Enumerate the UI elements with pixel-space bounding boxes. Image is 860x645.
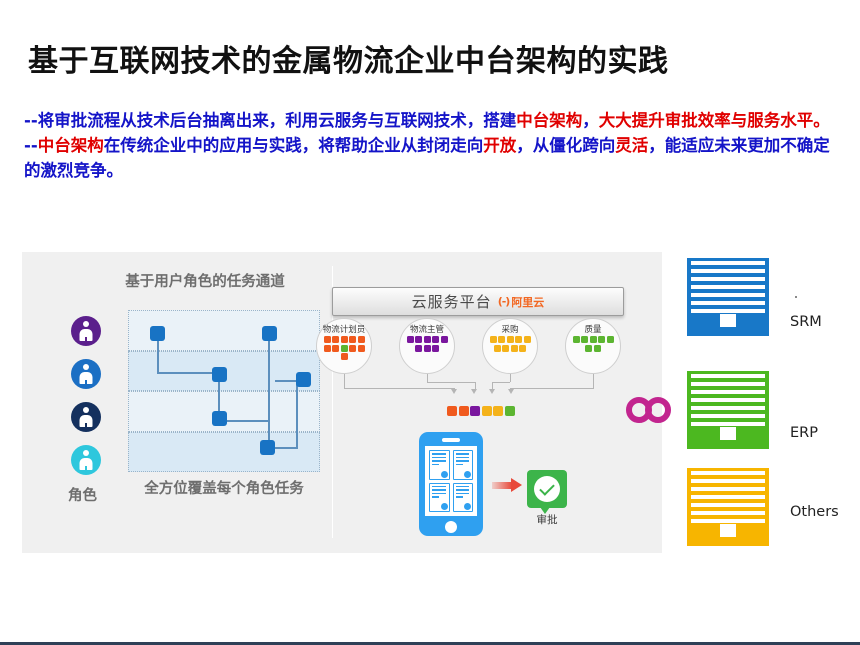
role-circle-label: 采购 [483,323,537,335]
avatar-leg-gap [85,466,87,472]
chain-link-icon [626,395,678,425]
role-circle-label: 物流主管 [400,323,454,335]
role-chip [432,336,439,343]
slide-canvas: 基于互联网技术的金属物流企业中台架构的实践 --将审批流程从技术后台抽离出来，利… [0,0,860,645]
phone-home-button [445,521,457,533]
system-stripe [691,269,765,273]
doc-text-line [432,464,439,466]
role-chip [332,345,339,352]
system-stripe [691,479,765,483]
role-circle-label: 物流计划员 [317,323,371,335]
role-chip [441,336,448,343]
system-stripe [691,398,765,402]
connector-tail-2 [475,382,476,390]
role-chip [324,336,331,343]
role-chip [507,336,514,343]
role-chip [358,345,365,352]
system-stripe [691,414,765,418]
chain-link-right [645,397,671,423]
role-chip [524,336,531,343]
role-chip-grid [404,336,450,352]
page-title: 基于互联网技术的金属物流企业中台架构的实践 [28,36,669,80]
lane-4 [128,432,320,473]
output-chip [482,406,492,416]
role-chip [349,336,356,343]
flow-arrow-icon [492,478,522,492]
role-chip [424,345,431,352]
avatar-leg-gap [85,423,87,429]
role-chip [349,345,356,352]
connector-arrow-2 [471,389,477,394]
role-circle-3[interactable]: 采购 [482,318,538,374]
approval-doc-card[interactable] [429,483,450,513]
doc-text-line [432,496,439,498]
role-chip [432,345,439,352]
system-stripe [691,495,765,499]
approval-doc-card[interactable] [453,450,474,480]
role-chip [519,345,526,352]
connector-run-1 [344,388,455,389]
roles-footer-label: 角色 [68,484,97,505]
role-circle-label: 质量 [566,323,620,335]
role-chip [494,345,501,352]
system-slot [720,314,736,327]
role-chip-grid [570,336,616,352]
p1-seg3: ， [582,111,599,130]
avatar-leg-gap [85,337,87,343]
left-panel-heading: 基于用户角色的任务通道 [90,270,320,291]
system-slot [720,524,736,537]
doc-text-line [456,486,470,488]
output-chip [447,406,457,416]
connector-arrow-4 [508,389,514,394]
connector-tail-3 [492,382,493,390]
system-stripe [691,487,765,491]
system-stripe [691,503,765,507]
connector-run-2 [427,382,475,383]
task-node-1[interactable] [150,326,165,341]
system-stripe [691,382,765,386]
output-chip [493,406,503,416]
role-chip [341,353,348,360]
system-icon-srm[interactable] [687,258,769,336]
role-chip [598,336,605,343]
role-avatar-purple [71,316,101,346]
role-chip [498,336,505,343]
mobile-device-icon [419,432,483,536]
system-stripe [691,511,765,515]
p2-highlight-2: 开放 [483,136,516,155]
role-chip [594,345,601,352]
p2-seg3: 在传统企业中的应用与实践，将帮助企业从封闭走向 [104,136,484,155]
body-paragraph-1: --将审批流程从技术后台抽离出来，利用云服务与互联网技术，搭建中台架构，大大提升… [24,108,842,133]
p1-highlight-1: 中台架构 [516,111,582,130]
system-stripe [691,406,765,410]
task-node-3[interactable] [212,411,227,426]
aggregated-task-chips [447,406,515,416]
role-chip [358,336,365,343]
doc-text-line [432,453,446,455]
system-stripe [691,471,765,475]
role-avatar-blue [71,359,101,389]
doc-text-line [456,489,470,491]
phone-speaker [442,438,460,442]
connector-drop-1 [344,374,345,388]
p1-highlight-2: 大大提升审批效率与服务水平。 [599,111,830,130]
p1-seg1: --将审批流程从技术后台抽离出来，利用云服务与互联网技术，搭建 [24,111,516,130]
cloud-platform-label: 云服务平台 [412,291,492,312]
role-chip [415,336,422,343]
doc-text-line [432,457,446,459]
aliyun-bracket-icon: (-) [498,295,510,308]
coverage-footer-label: 全方位覆盖每个角色任务 [128,480,320,499]
role-avatar-column [71,316,115,488]
system-stripe [691,390,765,394]
role-chip [515,336,522,343]
doc-text-line [432,493,446,495]
task-channel-lanes [128,310,320,472]
system-icon-erp[interactable] [687,371,769,449]
role-chip-grid [487,336,533,352]
task-node-6[interactable] [260,440,275,455]
connector-drop-2 [427,374,428,382]
arrow-head [511,478,522,492]
system-stripe [691,422,765,426]
output-chip [505,406,515,416]
system-label-others: Others [790,504,839,520]
role-chip [581,336,588,343]
task-node-4[interactable] [262,326,277,341]
p2-highlight-1: 中台架构 [38,136,104,155]
aliyun-logo-text: 阿里云 [511,294,544,310]
role-avatar-cyan [71,445,101,475]
role-circle-4[interactable]: 质量 [565,318,621,374]
approval-doc-card[interactable] [453,483,474,513]
doc-avatar-icon [441,471,448,478]
arrow-shaft [492,482,512,489]
doc-text-line [456,493,470,495]
output-chip [459,406,469,416]
system-stripe [691,261,765,265]
system-label-erp: ERP [790,425,818,441]
system-stripe [691,277,765,281]
role-circle-2[interactable]: 物流主管 [399,318,455,374]
role-chip [324,345,331,352]
approval-label: 审批 [527,512,567,527]
doc-text-line [456,460,470,462]
connector-arrow-1 [451,389,457,394]
output-chip [470,406,480,416]
role-chip [424,336,431,343]
system-stripe [691,301,765,305]
avatar-leg-gap [85,380,87,386]
role-chip [332,336,339,343]
role-chip [490,336,497,343]
p2-highlight-3: 灵活 [615,136,648,155]
role-chip [502,345,509,352]
role-chip [573,336,580,343]
role-chip [407,336,414,343]
doc-text-line [432,486,446,488]
role-chip [415,345,422,352]
connector-run-3 [492,382,510,383]
doc-text-line [456,464,463,466]
approval-check-icon [527,470,567,508]
aliyun-logo: (-) 阿里云 [498,294,545,310]
doc-text-line [432,460,446,462]
node-link-2 [157,372,214,374]
system-stripe [691,285,765,289]
role-circle-1[interactable]: 物流计划员 [316,318,372,374]
doc-text-line [456,453,470,455]
body-text-block: --将审批流程从技术后台抽离出来，利用云服务与互联网技术，搭建中台架构，大大提升… [24,108,842,183]
system-icon-others[interactable] [687,468,769,546]
role-chip [341,336,348,343]
role-chip [585,345,592,352]
role-chip [590,336,597,343]
system-stripe [691,374,765,378]
doc-avatar-icon [464,503,471,510]
node-link-8 [296,382,298,448]
doc-text-line [432,489,446,491]
decorative-dot [795,296,797,298]
p2-seg1: -- [24,136,38,155]
phone-screen [425,446,477,516]
doc-text-line [456,457,470,459]
role-chip [341,345,348,352]
node-link-1 [157,341,159,374]
cloud-platform-bar[interactable]: 云服务平台 (-) 阿里云 [332,287,624,316]
role-chip [607,336,614,343]
task-node-5[interactable] [296,372,311,387]
system-stripe [691,293,765,297]
doc-text-line [456,496,463,498]
approval-doc-card[interactable] [429,450,450,480]
connector-drop-4 [593,374,594,388]
role-chip-grid [321,336,367,360]
body-paragraph-2: --中台架构在传统企业中的应用与实践，将帮助企业从封闭走向开放，从僵化跨向灵活，… [24,133,842,183]
doc-avatar-icon [441,503,448,510]
system-label-srm: SRM [790,314,822,330]
node-link-5 [268,341,270,422]
p2-seg5: ，从僵化跨向 [516,136,615,155]
task-node-2[interactable] [212,367,227,382]
connector-run-4 [510,388,594,389]
connector-drop-3 [510,374,511,382]
role-avatar-navy [71,402,101,432]
doc-avatar-icon [464,471,471,478]
system-slot [720,427,736,440]
role-chip [511,345,518,352]
system-stripe [691,519,765,523]
node-link-7 [275,447,298,449]
system-stripe [691,309,765,313]
